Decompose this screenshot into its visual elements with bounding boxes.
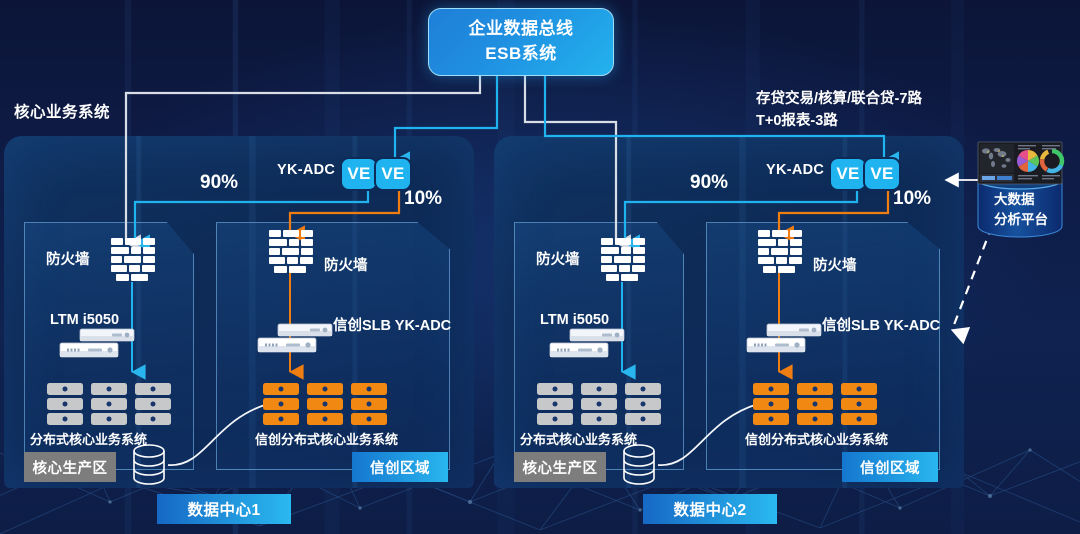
firewall-label-dc2-xc: 防火墙 [813, 254, 857, 275]
server-stack-label-dc2-core: 分布式核心业务系统 [520, 429, 637, 448]
server-unit [625, 413, 661, 425]
server-unit [797, 398, 833, 410]
server-unit [47, 398, 83, 410]
wire-esb-to-dc1-ve [395, 74, 497, 160]
firewall-icon-dc2-core [600, 238, 646, 282]
server-unit [537, 383, 573, 395]
zone-badge-dc1-xc[interactable]: 信创区域 [352, 452, 448, 482]
ve-badge-dc1-b[interactable]: VE [374, 157, 412, 191]
wire-dc2-ve-10-to-xc-firewall [779, 190, 888, 234]
server-unit [841, 413, 877, 425]
firewall-label-dc1-xc: 防火墙 [324, 254, 368, 275]
slb-appliance-icon-dc1 [256, 322, 334, 362]
ltm-appliance-icon-dc1 [58, 327, 136, 367]
server-unit [841, 383, 877, 395]
wire-dc2-db-to-xc-servers [658, 404, 758, 465]
traffic-note-line1: 存贷交易/核算/联合贷-7路 [756, 91, 922, 107]
wire-dc1-db-to-xc-servers [168, 404, 268, 465]
server-unit [47, 383, 83, 395]
firewall-icon-dc1-xc [268, 230, 314, 274]
ve-badge-dc1-a[interactable]: VE [340, 157, 378, 191]
wire-bigdata-dashed-to-dc2 [952, 226, 992, 330]
server-unit [797, 383, 833, 395]
esb-title-line2: ESB系统 [485, 42, 556, 67]
zone-badge-dc2-xc[interactable]: 信创区域 [842, 452, 938, 482]
server-unit [753, 413, 789, 425]
server-unit [263, 383, 299, 395]
split-10-label-dc2: 10% [893, 188, 931, 210]
firewall-label-dc1-core: 防火墙 [46, 248, 90, 269]
server-unit [753, 383, 789, 395]
server-unit [307, 398, 343, 410]
server-unit [351, 383, 387, 395]
device-label-dc2-xc: 信创SLB YK-ADC [822, 317, 940, 337]
server-stack-dc2-xc [753, 383, 877, 425]
server-unit [351, 413, 387, 425]
core-business-system-label: 核心业务系统 [14, 100, 110, 122]
wire-dc1-ve-10-to-xc-firewall [290, 190, 399, 234]
diagram-canvas: 企业数据总线 ESB系统 核心业务系统 存贷交易/核算/联合贷-7路 T+0报表… [0, 0, 1080, 534]
yk-adc-label-dc2: YK-ADC [766, 162, 824, 178]
device-label-dc1-xc: 信创SLB YK-ADC [333, 317, 451, 337]
wire-dc1-ve-90-to-core-firewall [135, 190, 368, 243]
server-unit [263, 398, 299, 410]
wire-dc2-ve-90-to-core-firewall [625, 190, 857, 243]
yk-adc-label-dc1: YK-ADC [277, 162, 335, 178]
server-unit [797, 413, 833, 425]
server-unit [307, 413, 343, 425]
ltm-appliance-icon-dc2 [548, 327, 626, 367]
database-icon-dc2 [622, 444, 656, 486]
server-unit [537, 398, 573, 410]
split-10-label-dc1: 10% [404, 188, 442, 210]
datacenter-badge-1[interactable]: 数据中心1 [157, 494, 291, 524]
traffic-note-line2: T+0报表-3路 [756, 113, 838, 129]
slb-appliance-icon-dc2 [745, 322, 823, 362]
database-icon-dc1 [132, 444, 166, 486]
device-label-dc2-core: LTM i5050 [540, 311, 609, 331]
datacenter-badge-2[interactable]: 数据中心2 [643, 494, 777, 524]
traffic-route-note: 存贷交易/核算/联合贷-7路 T+0报表-3路 [756, 88, 922, 133]
esb-title-line1: 企业数据总线 [469, 17, 574, 42]
wire-esb-to-dc2-core-firewall [525, 74, 616, 243]
server-unit [91, 398, 127, 410]
ve-badge-group-dc2[interactable]: VE VE [829, 157, 901, 191]
server-unit [307, 383, 343, 395]
server-unit [47, 413, 83, 425]
server-unit [91, 383, 127, 395]
server-unit [625, 383, 661, 395]
server-unit [841, 398, 877, 410]
firewall-icon-dc2-xc [757, 230, 803, 274]
server-stack-dc1-xc [263, 383, 387, 425]
server-stack-label-dc1-xc: 信创分布式核心业务系统 [255, 429, 398, 448]
server-unit [581, 398, 617, 410]
bigdata-label-line2: 分析平台 [994, 212, 1048, 227]
server-unit [135, 383, 171, 395]
server-unit [537, 413, 573, 425]
server-unit [91, 413, 127, 425]
server-unit [625, 398, 661, 410]
server-stack-label-dc1-core: 分布式核心业务系统 [30, 429, 147, 448]
esb-system-box[interactable]: 企业数据总线 ESB系统 [428, 8, 614, 76]
server-stack-label-dc2-xc: 信创分布式核心业务系统 [745, 429, 888, 448]
server-stack-dc1-core [47, 383, 171, 425]
server-unit [581, 383, 617, 395]
server-unit [351, 398, 387, 410]
firewall-icon-dc1-core [110, 238, 156, 282]
ve-badge-dc2-a[interactable]: VE [829, 157, 867, 191]
zone-badge-dc2-core[interactable]: 核心生产区 [514, 452, 606, 482]
server-unit [263, 413, 299, 425]
split-90-label-dc1: 90% [200, 172, 238, 194]
ve-badge-dc2-b[interactable]: VE [863, 157, 901, 191]
bigdata-label-line1: 大数据 [994, 192, 1035, 207]
server-unit [753, 398, 789, 410]
server-unit [581, 413, 617, 425]
firewall-label-dc2-core: 防火墙 [536, 248, 580, 269]
bigdata-platform-label: 大数据 分析平台 [994, 190, 1048, 231]
device-label-dc1-core: LTM i5050 [50, 311, 119, 331]
ve-badge-group-dc1[interactable]: VE VE [340, 157, 412, 191]
zone-badge-dc1-core[interactable]: 核心生产区 [24, 452, 116, 482]
server-unit [135, 398, 171, 410]
wire-esb-to-dc1-core-firewall [126, 74, 480, 243]
split-90-label-dc2: 90% [690, 172, 728, 194]
server-unit [135, 413, 171, 425]
server-stack-dc2-core [537, 383, 661, 425]
